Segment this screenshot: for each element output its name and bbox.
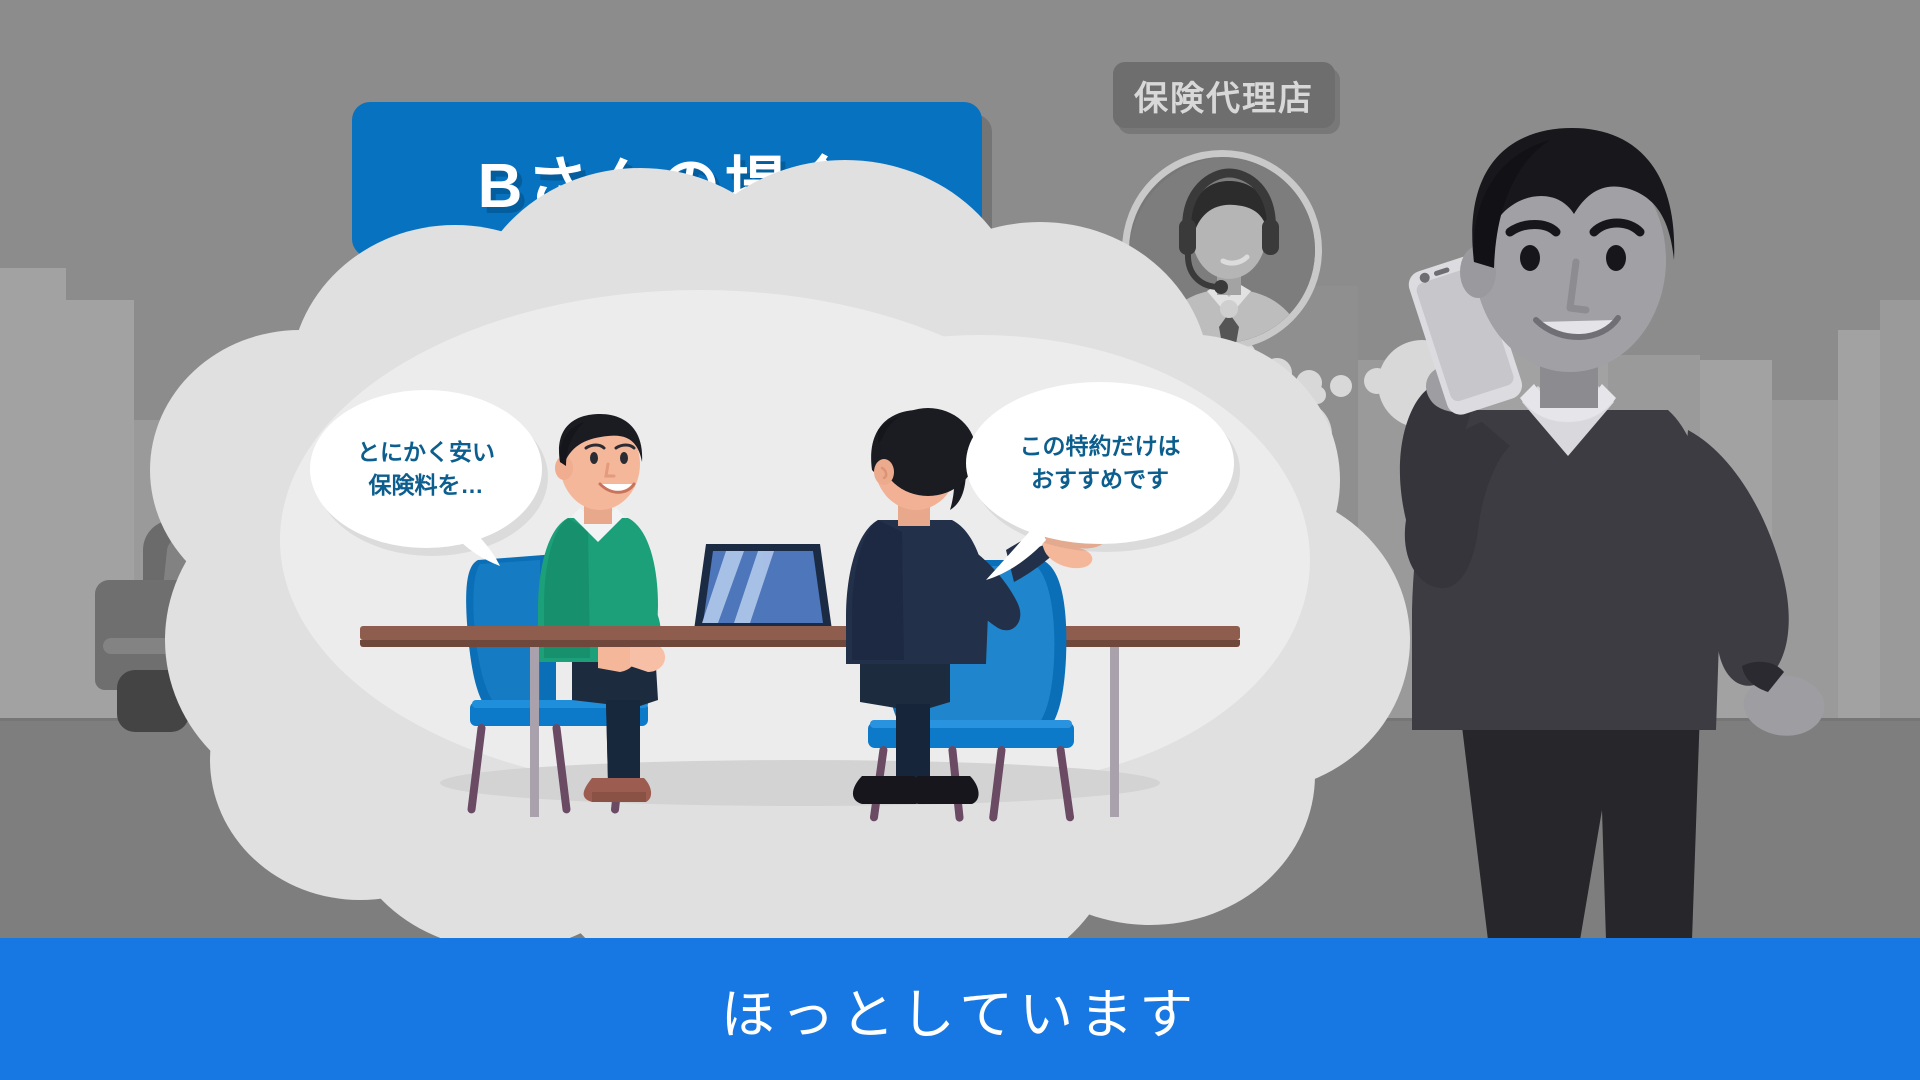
agency-badge: 保険代理店 bbox=[1113, 62, 1335, 128]
illustration-slide: 保険代理店 Bさんの場合 bbox=[0, 0, 1920, 1080]
speech-tail-right bbox=[976, 518, 1056, 594]
bubble-line: とにかく安い bbox=[357, 436, 495, 469]
speech-tail-left bbox=[450, 512, 520, 582]
caption-bar: ほっとしています bbox=[0, 938, 1920, 1080]
headset-agent-icon bbox=[1122, 150, 1322, 350]
bubble-line: この特約だけは bbox=[1020, 430, 1181, 463]
consultation-scene: とにかく安い 保険料を… この特約だけは おすすめです bbox=[420, 400, 1180, 830]
car-icon bbox=[95, 520, 385, 720]
desk-leg bbox=[530, 647, 539, 817]
person-phone-caller bbox=[1370, 110, 1920, 940]
agency-badge-label: 保険代理店 bbox=[1134, 71, 1314, 120]
caption-text: ほっとしています bbox=[721, 970, 1199, 1049]
bubble-line: おすすめです bbox=[1020, 463, 1181, 496]
title-banner: Bさんの場合 bbox=[352, 102, 982, 257]
page-title: Bさんの場合 bbox=[478, 135, 857, 225]
bubble-line: 保険料を… bbox=[357, 469, 495, 502]
